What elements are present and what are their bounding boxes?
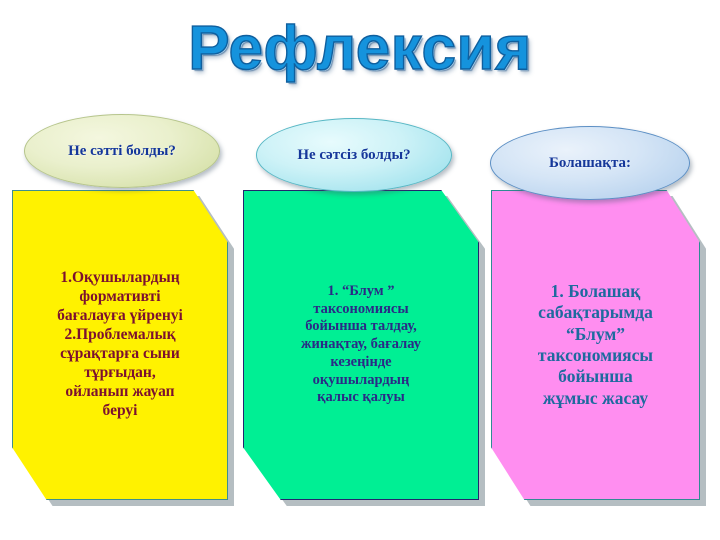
panel-future-line: жұмыс жасау bbox=[538, 388, 653, 409]
panel-successes-line: бағалауға үйренуі bbox=[57, 307, 183, 326]
panel-failures-line: таксономиясы bbox=[301, 301, 421, 319]
panel-successes-line: 2.Проблемалық bbox=[57, 326, 183, 345]
oval-what-went-well-label: Не сәтті болды? bbox=[68, 143, 176, 160]
panel-future-line: 1. Болашақ bbox=[538, 281, 653, 302]
panel-future-line: сабақтарымда bbox=[538, 302, 653, 323]
panel-failures-line: бойынша талдау, bbox=[301, 318, 421, 336]
panel-failures-text: 1. “Блум ” таксономиясы бойынша талдау, … bbox=[301, 283, 421, 407]
oval-in-the-future-label: Болашақта: bbox=[549, 155, 631, 172]
panel-successes-line: тұрғыдан, bbox=[57, 364, 183, 383]
oval-what-went-well[interactable]: Не сәтті болды? bbox=[24, 114, 220, 188]
panel-failures-line: жинақтау, бағалау bbox=[301, 336, 421, 354]
page-title: Рефлексия bbox=[0, 14, 720, 84]
panel-failures-line: қалыс қалуы bbox=[301, 389, 421, 407]
oval-in-the-future[interactable]: Болашақта: bbox=[490, 126, 690, 200]
panel-failures[interactable]: 1. “Блум ” таксономиясы бойынша талдау, … bbox=[243, 190, 479, 500]
panel-failures-line: оқушылардың bbox=[301, 372, 421, 390]
panel-future-text: 1. Болашақ сабақтарымда “Блум” таксономи… bbox=[538, 281, 653, 409]
oval-what-went-wrong[interactable]: Не сәтсіз болды? bbox=[256, 118, 452, 192]
panel-future-line: бойынша bbox=[538, 366, 653, 387]
panel-successes-line: 1.Оқушылардың bbox=[57, 269, 183, 288]
panel-successes[interactable]: 1.Оқушылардың формативті бағалауға үйрен… bbox=[12, 190, 228, 500]
panel-future-line: таксономиясы bbox=[538, 345, 653, 366]
slide-root: Рефлексия 1.Оқушылардың формативті бағал… bbox=[0, 0, 720, 540]
oval-what-went-wrong-label: Не сәтсіз болды? bbox=[297, 147, 410, 164]
panel-successes-line: беруі bbox=[57, 402, 183, 421]
panel-successes-line: формативті bbox=[57, 288, 183, 307]
panel-failures-line: кезеңінде bbox=[301, 354, 421, 372]
panel-successes-line: ойланып жауап bbox=[57, 383, 183, 402]
panel-future[interactable]: 1. Болашақ сабақтарымда “Блум” таксономи… bbox=[491, 190, 700, 500]
panel-failures-line: 1. “Блум ” bbox=[301, 283, 421, 301]
panel-future-line: “Блум” bbox=[538, 324, 653, 345]
panel-successes-line: сұрақтарға сыни bbox=[57, 345, 183, 364]
panel-successes-text: 1.Оқушылардың формативті бағалауға үйрен… bbox=[57, 269, 183, 420]
